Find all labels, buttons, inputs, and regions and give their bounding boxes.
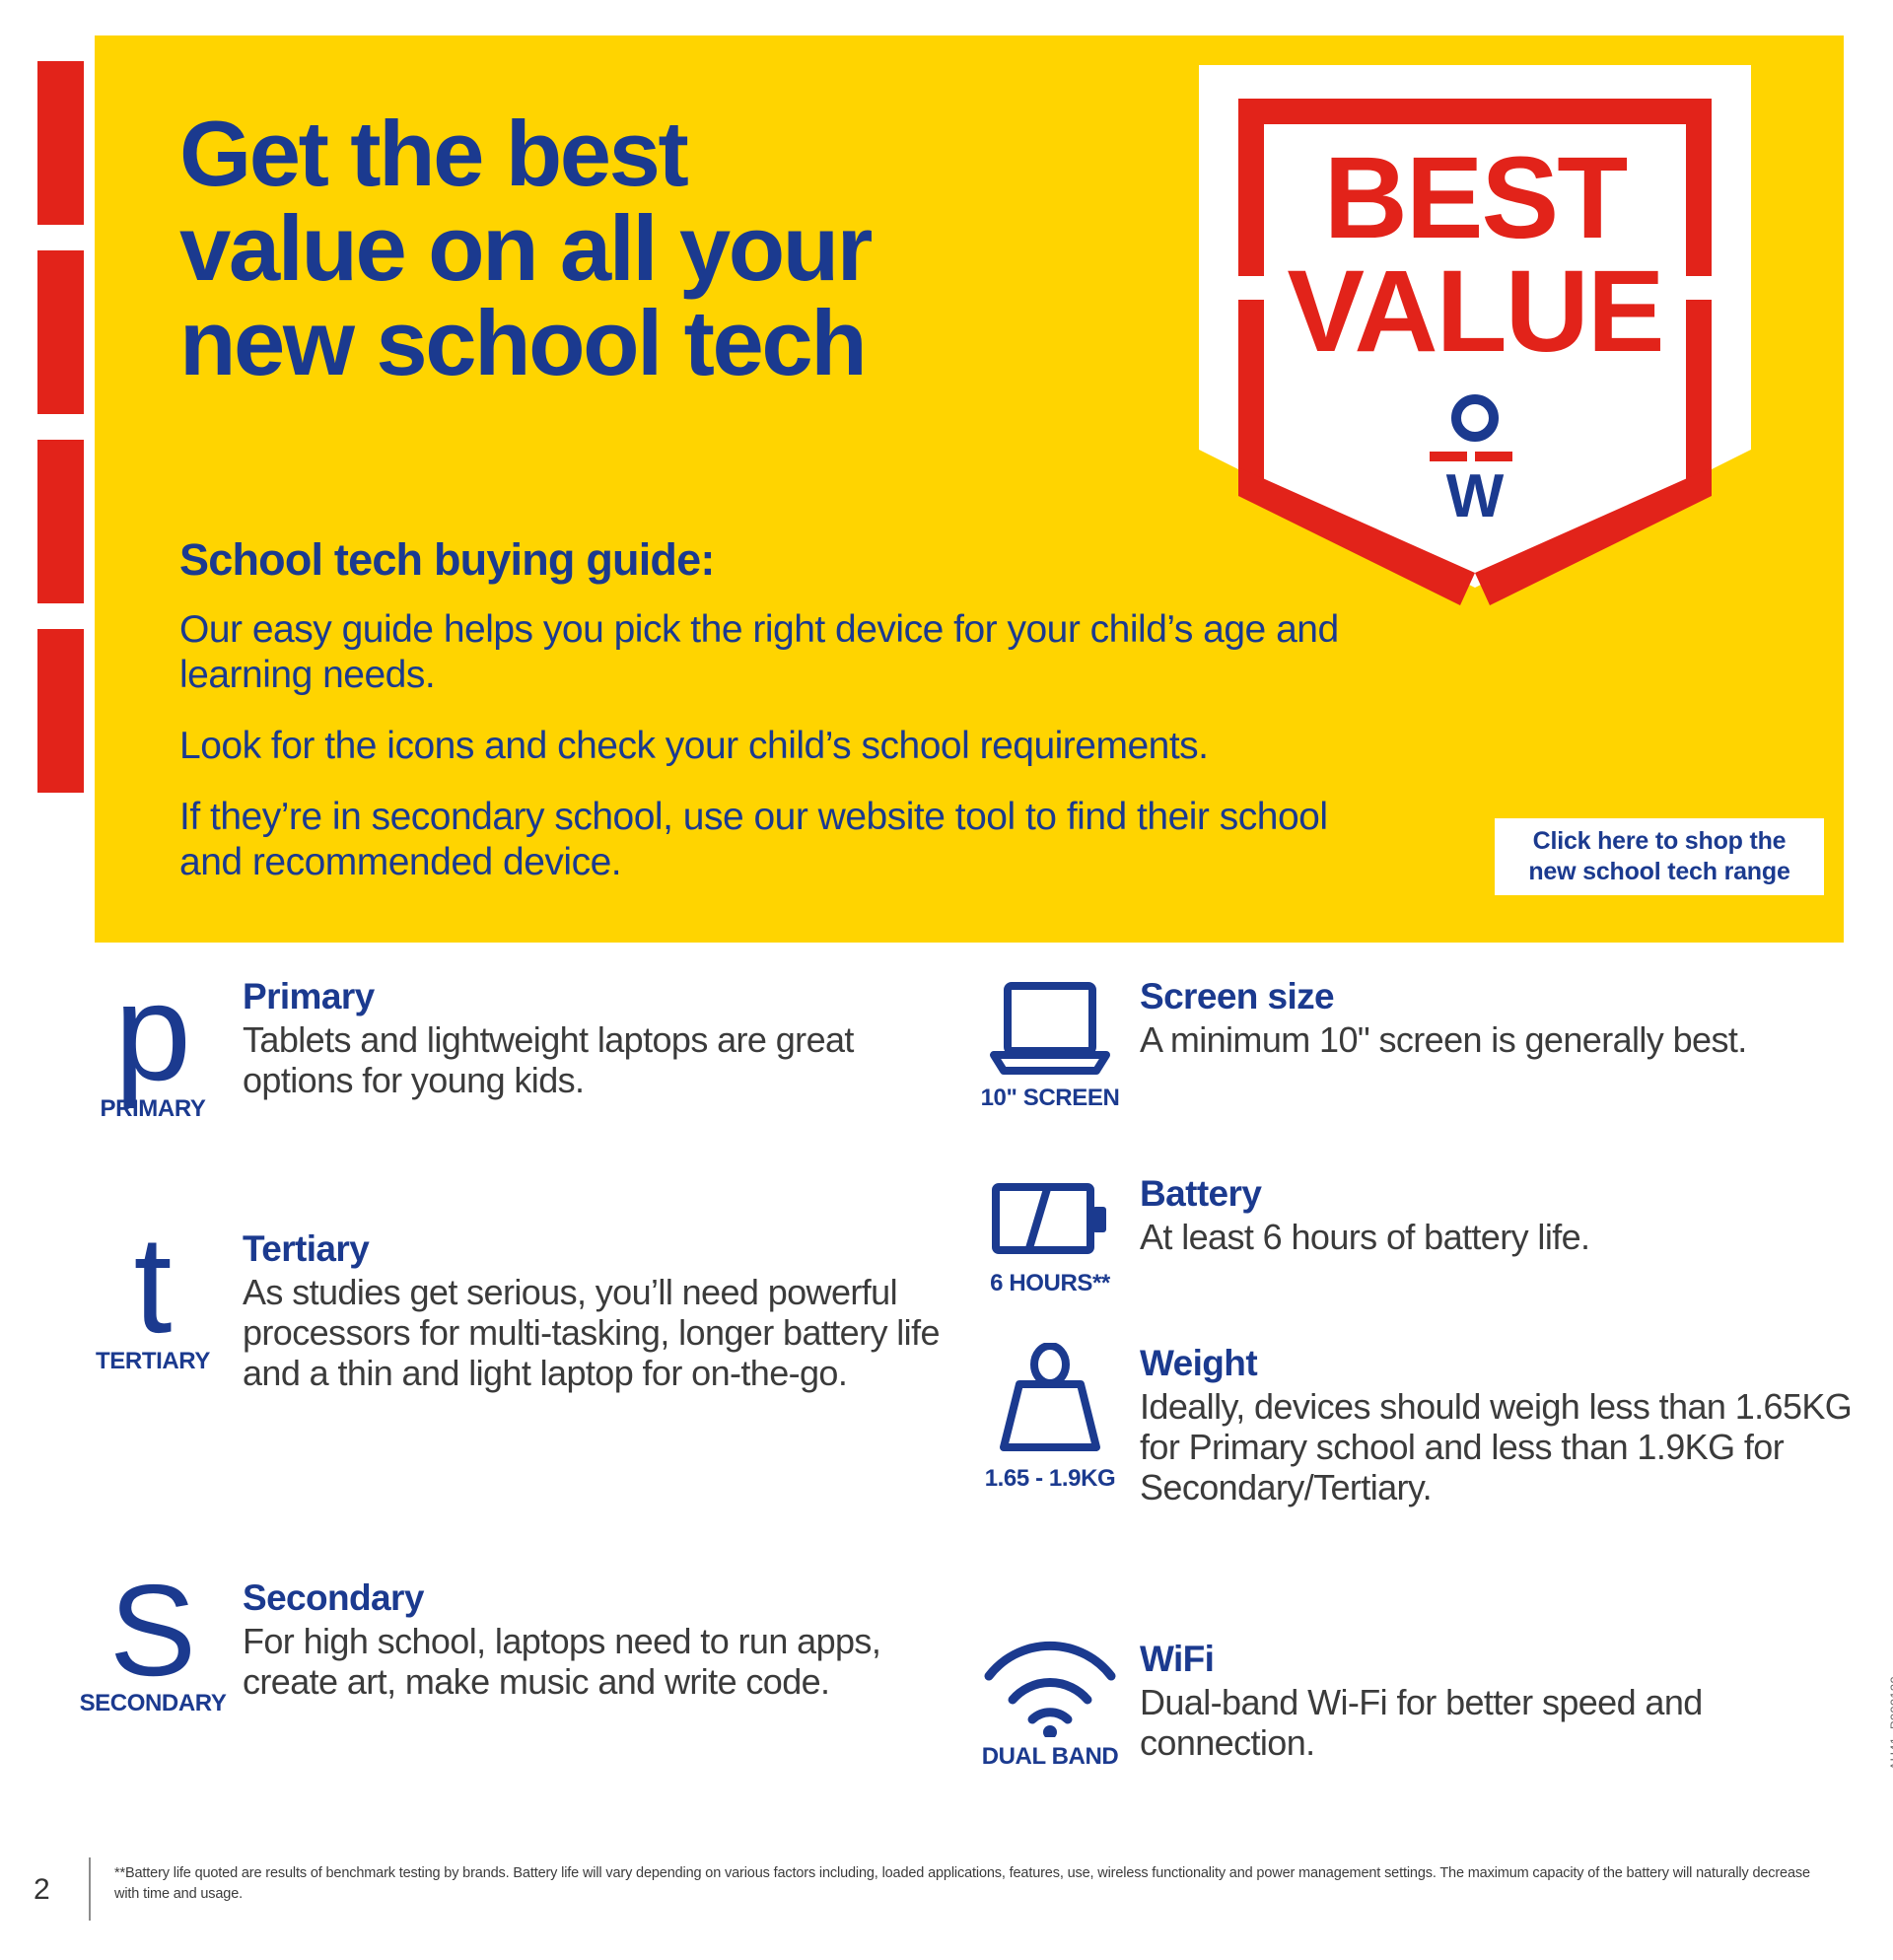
features-section: p PRIMARY Primary Tablets and lightweigh… xyxy=(0,976,1893,1834)
best-value-badge: BEST VALUE W xyxy=(1179,65,1771,617)
hero-subsection: School tech buying guide: Our easy guide… xyxy=(179,534,1353,885)
hero-headline-line-2: value on all your xyxy=(179,201,1175,296)
feature-primary: p PRIMARY Primary Tablets and lightweigh… xyxy=(79,976,946,1123)
wifi-text: Dual-band Wi-Fi for better speed and con… xyxy=(1140,1682,1863,1763)
feature-weight: 1.65 - 1.9KG Weight Ideally, devices sho… xyxy=(976,1343,1863,1507)
cta-line-2: new school tech range xyxy=(1528,857,1789,887)
battery-icon xyxy=(986,1173,1114,1264)
hero-paragraph-1: Our easy guide helps you pick the right … xyxy=(179,607,1353,698)
primary-icon-caption: PRIMARY xyxy=(101,1095,206,1123)
feature-battery: 6 HOURS** Battery At least 6 hours of ba… xyxy=(976,1173,1863,1297)
weight-icon-wrap: 1.65 - 1.9KG xyxy=(976,1343,1124,1493)
hero-paragraph-2: Look for the icons and check your child’… xyxy=(179,724,1353,769)
feature-tertiary: t TERTIARY Tertiary As studies get serio… xyxy=(79,1228,946,1393)
hero-banner: Get the best value on all your new schoo… xyxy=(37,35,1844,943)
weight-text: Ideally, devices should weigh less than … xyxy=(1140,1386,1863,1507)
primary-glyph: p xyxy=(114,976,191,1089)
best-value-shield-icon: BEST VALUE W xyxy=(1179,65,1771,617)
feature-secondary: S SECONDARY Secondary For high school, l… xyxy=(79,1577,946,1717)
secondary-letter-icon: S xyxy=(109,1577,196,1684)
screen-text: A minimum 10" screen is generally best. xyxy=(1140,1019,1747,1060)
battery-icon-caption: 6 HOURS** xyxy=(990,1270,1110,1297)
page-footer: 2 **Battery life quoted are results of b… xyxy=(0,1855,1893,1960)
secondary-icon-wrap: S SECONDARY xyxy=(79,1577,227,1717)
wifi-icon xyxy=(981,1639,1119,1737)
red-tick xyxy=(37,629,84,793)
footer-divider xyxy=(89,1857,91,1921)
tertiary-glyph: t xyxy=(134,1228,173,1342)
weight-title: Weight xyxy=(1140,1343,1863,1384)
secondary-icon-caption: SECONDARY xyxy=(80,1690,227,1717)
badge-line-1: BEST xyxy=(1324,133,1628,263)
tertiary-text: As studies get serious, you’ll need powe… xyxy=(243,1272,946,1393)
battery-body: Battery At least 6 hours of battery life… xyxy=(1124,1173,1589,1257)
primary-letter-icon: p xyxy=(114,976,191,1089)
screen-icon-caption: 10" SCREEN xyxy=(981,1085,1120,1112)
badge-line-2: VALUE xyxy=(1287,246,1662,377)
red-tick xyxy=(37,250,84,414)
wifi-title: WiFi xyxy=(1140,1639,1863,1680)
feature-wifi: DUAL BAND WiFi Dual-band Wi-Fi for bette… xyxy=(976,1639,1863,1771)
wifi-icon-caption: DUAL BAND xyxy=(982,1743,1119,1771)
footer-disclaimer: **Battery life quoted are results of ben… xyxy=(114,1863,1830,1905)
primary-text: Tablets and lightweight laptops are grea… xyxy=(243,1019,946,1100)
wifi-body: WiFi Dual-band Wi-Fi for better speed an… xyxy=(1124,1639,1863,1763)
primary-icon-wrap: p PRIMARY xyxy=(79,976,227,1123)
primary-body: Primary Tablets and lightweight laptops … xyxy=(227,976,946,1100)
tertiary-icon-caption: TERTIARY xyxy=(96,1348,210,1375)
hero-headline-line-3: new school tech xyxy=(179,296,1175,390)
weight-body: Weight Ideally, devices should weigh les… xyxy=(1124,1343,1863,1507)
weight-icon xyxy=(986,1343,1114,1459)
red-tick xyxy=(37,440,84,603)
hero-headline-line-1: Get the best xyxy=(179,106,1175,201)
red-tick-marks xyxy=(37,35,99,943)
secondary-text: For high school, laptops need to run app… xyxy=(243,1621,946,1702)
tertiary-body: Tertiary As studies get serious, you’ll … xyxy=(227,1228,946,1393)
hero-subheading: School tech buying guide: xyxy=(179,534,1353,586)
battery-icon-wrap: 6 HOURS** xyxy=(976,1173,1124,1297)
red-tick xyxy=(37,61,84,225)
weight-icon-caption: 1.65 - 1.9KG xyxy=(985,1465,1116,1493)
tertiary-icon-wrap: t TERTIARY xyxy=(79,1228,227,1375)
page-number: 2 xyxy=(34,1873,50,1907)
secondary-body: Secondary For high school, laptops need … xyxy=(227,1577,946,1702)
secondary-glyph: S xyxy=(109,1577,196,1684)
battery-text: At least 6 hours of battery life. xyxy=(1140,1217,1589,1257)
laptop-icon xyxy=(986,976,1114,1079)
svg-text:W: W xyxy=(1446,462,1505,530)
side-code: AU41_P000139 xyxy=(1887,1676,1893,1770)
shop-school-tech-button[interactable]: Click here to shop the new school tech r… xyxy=(1495,818,1824,895)
battery-title: Battery xyxy=(1140,1173,1589,1215)
screen-body: Screen size A minimum 10" screen is gene… xyxy=(1124,976,1747,1060)
tertiary-title: Tertiary xyxy=(243,1228,946,1270)
tertiary-letter-icon: t xyxy=(134,1228,173,1342)
primary-title: Primary xyxy=(243,976,946,1017)
feature-screen-size: 10" SCREEN Screen size A minimum 10" scr… xyxy=(976,976,1863,1112)
wifi-icon-wrap: DUAL BAND xyxy=(976,1639,1124,1771)
hero-paragraph-3: If they’re in secondary school, use our … xyxy=(179,795,1353,885)
screen-title: Screen size xyxy=(1140,976,1747,1017)
secondary-title: Secondary xyxy=(243,1577,946,1619)
hero-headline: Get the best value on all your new schoo… xyxy=(179,106,1175,390)
screen-icon-wrap: 10" SCREEN xyxy=(976,976,1124,1112)
cta-line-1: Click here to shop the xyxy=(1533,826,1787,857)
